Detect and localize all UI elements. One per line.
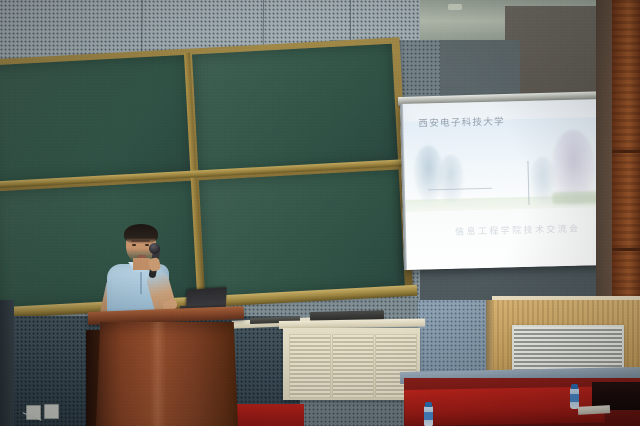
bottle-cap xyxy=(425,402,432,407)
cabinet-door[interactable] xyxy=(289,334,331,398)
louvered-cabinet[interactable] xyxy=(283,328,420,400)
lecture-hall-photo: 西安电子科技大学 信息工程学院技术交流会 xyxy=(0,0,640,426)
lectern-body xyxy=(96,322,238,426)
wall-left-edge xyxy=(0,300,14,426)
chalkboard-frame xyxy=(0,37,413,315)
ceiling-light xyxy=(448,4,462,10)
chalkboard-panel xyxy=(0,55,192,184)
bottle-label xyxy=(424,412,433,420)
presenter-eye xyxy=(132,244,136,246)
bottle-cap xyxy=(571,384,578,389)
cabinet-door[interactable] xyxy=(332,334,374,398)
wood-clad-column xyxy=(612,0,640,330)
bottle-label xyxy=(570,394,579,402)
column-seam xyxy=(612,248,640,251)
chalkboard-panel xyxy=(199,170,405,299)
presenter-mouth xyxy=(137,255,146,258)
presenter-brow xyxy=(131,240,150,242)
lectern-highlight xyxy=(150,322,166,426)
chalkboard-panel xyxy=(192,44,398,173)
paper-stack xyxy=(578,405,610,415)
projection-screen: 西安电子科技大学 信息工程学院技术交流会 xyxy=(400,99,622,270)
wall-outlet[interactable] xyxy=(44,404,59,419)
column-seam xyxy=(612,150,640,153)
polo-placket xyxy=(140,272,142,294)
chalkboard-assembly xyxy=(0,37,414,329)
slide-photo-ground xyxy=(406,207,622,270)
slide-title: 西安电子科技大学 xyxy=(418,113,505,129)
